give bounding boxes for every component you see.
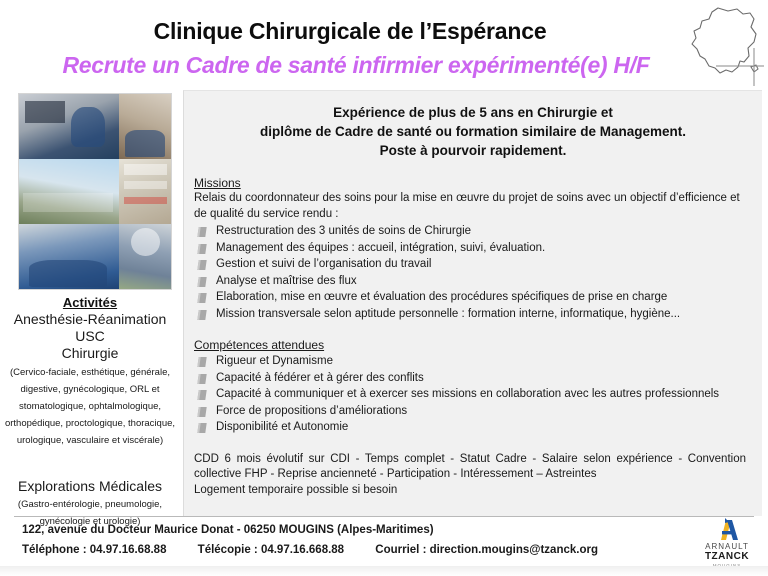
poster-header: Clinique Chirurgicale de l’Espérance Rec… (0, 0, 768, 88)
photo-control-room (19, 94, 119, 159)
bullet-icon (197, 260, 206, 270)
footer-email[interactable]: Courriel : direction.mougins@tzanck.org (375, 544, 598, 556)
mission-text: Gestion et suivi de l’organisation du tr… (216, 258, 431, 270)
list-item: Restructuration des 3 unités de soins de… (194, 224, 762, 240)
footer-divider (14, 516, 754, 517)
mission-text: Mission transversale selon aptitude pers… (216, 308, 680, 320)
bullet-icon (197, 310, 206, 320)
intro-line-2: diplôme de Cadre de santé ou formation s… (198, 122, 748, 141)
list-item: Disponibilité et Autonomie (194, 420, 762, 436)
missions-intro: Relais du coordonnateur des soins pour l… (194, 191, 748, 222)
activities-title: Activités (0, 295, 180, 310)
photo-clinic-building (19, 159, 119, 224)
activity-chirurgie: Chirurgie (0, 345, 180, 361)
mission-text: Management des équipes : accueil, intégr… (216, 242, 545, 254)
mission-text: Restructuration des 3 unités de soins de… (216, 225, 471, 237)
job-advert-poster: Clinique Chirurgicale de l’Espérance Rec… (0, 0, 768, 576)
activity-usc: USC (0, 328, 180, 344)
list-item: Force de propositions d’améliorations (194, 404, 762, 420)
intro-line-3-text: Poste à pourvoir rapidement (380, 143, 563, 158)
france-map-icon (688, 4, 764, 86)
list-item: Capacité à fédérer et à gérer des confli… (194, 371, 762, 387)
list-item: Analyse et maîtrise des flux (194, 274, 762, 290)
footer-gradient-band (0, 566, 768, 576)
bullet-icon (197, 390, 206, 400)
list-item: Capacité à communiquer et à exercer ses … (194, 387, 762, 403)
list-item: Mission transversale selon aptitude pers… (194, 307, 762, 323)
list-item: Rigueur et Dynamisme (194, 354, 762, 370)
arnault-tzanck-logo: ARNAULT TZANCK MOUGINS (694, 518, 760, 570)
footer-fax: Télécopie : 04.97.16.668.88 (198, 544, 344, 556)
logo-line-1: ARNAULT (694, 542, 760, 551)
bullet-icon (197, 357, 206, 367)
footer-address: 122, avenue du Docteur Maurice Donat - 0… (22, 524, 434, 536)
photo-supply-shelves (119, 159, 171, 224)
list-item: Elaboration, mise en œuvre et évaluation… (194, 290, 762, 306)
missions-list: Restructuration des 3 unités de soins de… (184, 224, 762, 322)
photo-collage (18, 93, 172, 290)
left-column: Activités Anesthésie-Réanimation USC Chi… (0, 90, 180, 510)
bullet-icon (197, 374, 206, 384)
bullet-icon (197, 423, 206, 433)
activity-chirurgie-detail: (Cervico-faciale, esthétique, générale, … (4, 364, 176, 449)
skill-text: Capacité à fédérer et à gérer des confli… (216, 372, 424, 384)
footer-phone: Téléphone : 04.97.16.68.88 (22, 544, 166, 556)
skills-list: Rigueur et Dynamisme Capacité à fédérer … (184, 354, 762, 436)
skill-text: Force de propositions d’améliorations (216, 405, 407, 417)
bullet-icon (197, 277, 206, 287)
photo-medical-equipment (119, 224, 171, 289)
mission-text: Elaboration, mise en œuvre et évaluation… (216, 291, 667, 303)
page-title: Clinique Chirurgicale de l’Espérance (0, 18, 700, 45)
skill-text: Capacité à communiquer et à exercer ses … (216, 388, 719, 400)
footer-contact-line: Téléphone : 04.97.16.68.88 Télécopie : 0… (22, 544, 598, 556)
page-subtitle: Recrute un Cadre de santé infirmier expé… (0, 52, 712, 79)
list-item: Gestion et suivi de l’organisation du tr… (194, 257, 762, 273)
logo-a-mark (712, 518, 742, 542)
intro-line-1: Expérience de plus de 5 ans en Chirurgie… (198, 103, 748, 122)
intro-block: Expérience de plus de 5 ans en Chirurgie… (198, 103, 748, 160)
bullet-icon (197, 227, 206, 237)
contract-terms: CDD 6 mois évolutif sur CDI - Temps comp… (194, 452, 746, 499)
activity-explorations: Explorations Médicales (0, 478, 180, 494)
intro-line-3-period: . (563, 143, 567, 158)
bullet-icon (197, 407, 206, 417)
logo-line-2: TZANCK (694, 551, 760, 562)
bullet-icon (197, 293, 206, 303)
contract-terms-line-1: CDD 6 mois évolutif sur CDI - Temps comp… (194, 452, 746, 483)
photo-caregiver-patient (119, 94, 171, 159)
intro-line-3: Poste à pourvoir rapidement. (198, 141, 748, 160)
contract-terms-line-2: Logement temporaire possible si besoin (194, 483, 746, 499)
activity-anesthesie: Anesthésie-Réanimation (0, 311, 180, 327)
bullet-icon (197, 244, 206, 254)
skill-text: Rigueur et Dynamisme (216, 355, 333, 367)
main-content-panel: Expérience de plus de 5 ans en Chirurgie… (183, 90, 762, 516)
skill-text: Disponibilité et Autonomie (216, 421, 348, 433)
mission-text: Analyse et maîtrise des flux (216, 275, 357, 287)
skills-heading: Compétences attendues (194, 338, 762, 352)
missions-heading: Missions (194, 176, 762, 190)
list-item: Management des équipes : accueil, intégr… (194, 241, 762, 257)
photo-operating-room (19, 224, 119, 289)
